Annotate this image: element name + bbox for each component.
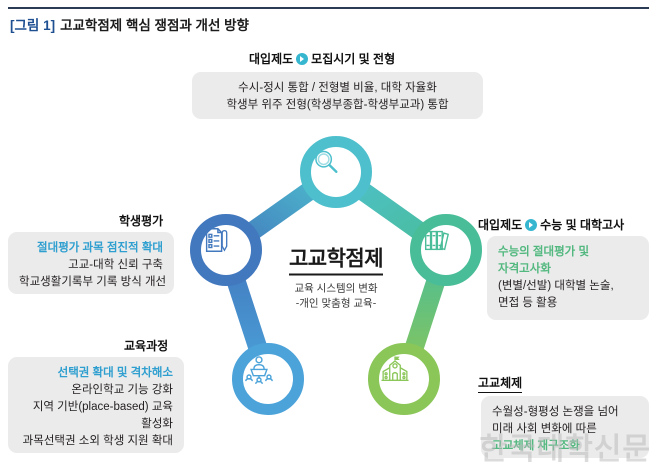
heading-suffix-admission-schedule: 모집시기 및 전형 bbox=[311, 52, 395, 66]
callout-line: 절대평가 과목 점진적 확대 bbox=[19, 240, 163, 257]
chevron-right-icon bbox=[525, 219, 537, 231]
pentagon-diagram: 고교학점제 교육 시스템의 변화 -개인 맞춤형 교육- bbox=[186, 136, 486, 436]
callout-line: 학생부 위주 전형(학생부종합-학생부교과) 통합 bbox=[203, 97, 472, 114]
figure-tag: [그림 1] bbox=[10, 18, 55, 33]
callout-line: 활성화 bbox=[19, 416, 173, 433]
callout-line: 학교생활기록부 기록 방식 개선 bbox=[19, 274, 163, 291]
callout-line: 고교-대학 신뢰 구축 bbox=[19, 257, 163, 274]
callout-line: (변별/선발) 대학별 논술, bbox=[498, 278, 638, 295]
callout-line: 수월성-형평성 논쟁을 넘어 bbox=[492, 404, 638, 421]
callout-line: 수시-정시 통합 / 전형별 비율, 대학 자율화 bbox=[203, 80, 472, 97]
chevron-right-icon bbox=[296, 53, 308, 65]
header-rule bbox=[8, 7, 649, 9]
callout-admission-exam: 수능의 절대평가 및 자격고사화 (변별/선발) 대학별 논술, 면접 등 활용 bbox=[487, 236, 649, 320]
callout-curriculum: 선택권 확대 및 격차해소 온라인학교 기능 강화 지역 기반(place-ba… bbox=[8, 357, 184, 453]
heading-prefix-admission-schedule: 대입제도 bbox=[249, 52, 293, 66]
callout-line: 온라인학교 기능 강화 bbox=[19, 382, 173, 399]
node-highschool-system[interactable] bbox=[368, 343, 440, 415]
callout-line: 미래 사회 변화에 따른 bbox=[492, 421, 638, 438]
section-heading-admission-schedule: 대입제도모집시기 및 전형 bbox=[249, 50, 395, 67]
figure-title: 고교학점제 핵심 쟁점과 개선 방향 bbox=[60, 18, 249, 33]
magnifier-icon bbox=[311, 147, 341, 177]
node-curriculum[interactable] bbox=[232, 343, 304, 415]
center-subtitle: 교육 시스템의 변화 -개인 맞춤형 교육- bbox=[236, 282, 436, 312]
callout-line: 수능의 절대평가 및 bbox=[498, 244, 638, 261]
callout-text-highlight: 전형별 비율, 대학 자율화 bbox=[318, 82, 437, 94]
section-heading-student-evaluation: 학생평가 bbox=[119, 212, 163, 229]
infographic-canvas: [그림 1]고교학점제 핵심 쟁점과 개선 방향 대입제도모집시기 및 전형 수… bbox=[0, 0, 657, 470]
heading-suffix-admission-exam: 수능 및 대학고사 bbox=[540, 218, 624, 232]
section-heading-admission-exam: 대입제도수능 및 대학고사 bbox=[478, 216, 624, 233]
callout-line: 자격고사화 bbox=[498, 261, 638, 278]
center-subtitle-line1: 교육 시스템의 변화 bbox=[236, 282, 436, 297]
callout-line: 지역 기반(place-based) 교육 bbox=[19, 399, 173, 416]
callout-line: 면접 등 활용 bbox=[498, 295, 638, 312]
callout-admission-schedule: 수시-정시 통합 / 전형별 비율, 대학 자율화 학생부 위주 전형(학생부종… bbox=[192, 72, 483, 119]
callout-line: 선택권 확대 및 격차해소 bbox=[19, 365, 173, 382]
center-subtitle-line2: -개인 맞춤형 교육- bbox=[236, 297, 436, 312]
presenter-icon bbox=[243, 354, 275, 386]
clipboard-pen-icon bbox=[201, 225, 231, 255]
school-icon bbox=[379, 354, 411, 386]
section-heading-curriculum: 교육과정 bbox=[124, 337, 168, 354]
callout-text: 수시-정시 통합 / bbox=[238, 82, 318, 94]
callout-student-evaluation: 절대평가 과목 점진적 확대 고교-대학 신뢰 구축 학교생활기록부 기록 방식… bbox=[8, 232, 174, 294]
page-title: [그림 1]고교학점제 핵심 쟁점과 개선 방향 bbox=[10, 14, 249, 34]
diagram-center-label: 고교학점제 교육 시스템의 변화 -개인 맞춤형 교육- bbox=[236, 243, 436, 312]
callout-line: 고교체제 재구조화 bbox=[492, 438, 638, 455]
node-admission-schedule[interactable] bbox=[300, 136, 372, 208]
callout-line: 과목선택권 소외 학생 지원 확대 bbox=[19, 433, 173, 450]
callout-highschool-system: 수월성-형평성 논쟁을 넘어 미래 사회 변화에 따른 고교체제 재구조화 bbox=[481, 396, 649, 458]
center-title: 고교학점제 bbox=[289, 243, 383, 276]
